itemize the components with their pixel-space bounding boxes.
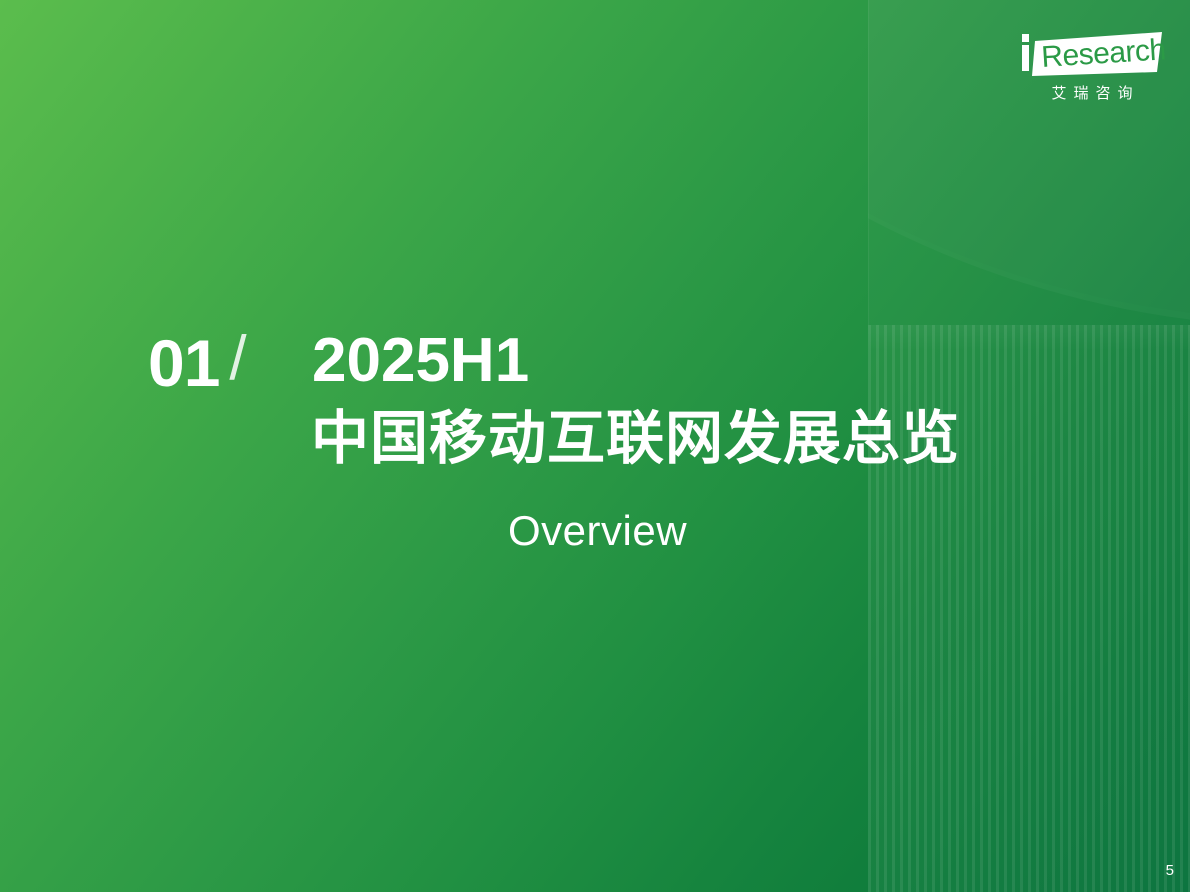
iresearch-logo-subtitle: 艾瑞咨询	[1018, 86, 1166, 101]
chapter-title-english: Overview	[508, 510, 687, 552]
chapter-divider-slide: Research 艾瑞咨询 01 / 2025H1 中国移动互联网发展总览 Ov…	[0, 0, 1190, 892]
chapter-headline: 01 / 2025H1 中国移动互联网发展总览 Overview	[148, 330, 1108, 580]
iresearch-logo: Research 艾瑞咨询	[1016, 30, 1166, 120]
chapter-number: 01	[148, 330, 219, 396]
iresearch-logo-mark: Research	[1016, 30, 1166, 82]
period-label: 2025H1	[312, 330, 529, 392]
page-number: 5	[1166, 863, 1174, 878]
chapter-divider-slash: /	[229, 328, 246, 390]
iresearch-logo-svg: Research	[1016, 30, 1166, 82]
chapter-title-chinese: 中国移动互联网发展总览	[311, 408, 960, 469]
chapter-number-group: 01 /	[148, 330, 247, 396]
